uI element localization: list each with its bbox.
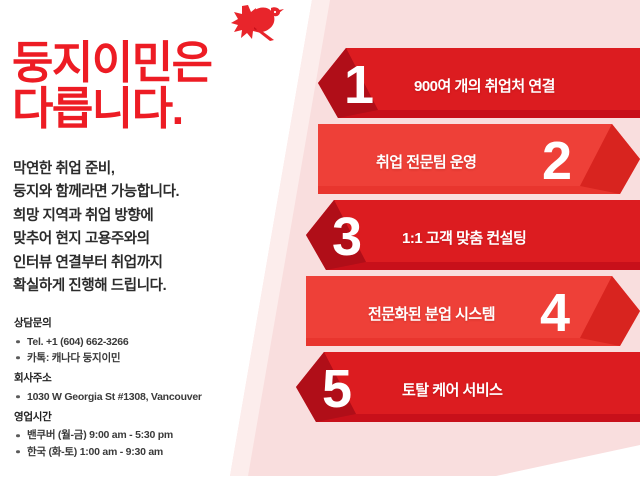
feature-banner-1-number: 1: [344, 58, 373, 112]
feature-banner-3[interactable]: 3 1:1 고객 맞춤 컨설팅: [306, 200, 640, 278]
headline-line-1: 둥지이민은: [12, 40, 292, 86]
contact-block: 상담문의 Tel. +1 (604) 662-3266 카톡: 캐나다 둥지이민…: [14, 318, 284, 467]
left-content-column: 둥지이민은 다릅니다. 막연한 취업 준비, 둥지와 함께라면 가능합니다. 희…: [0, 0, 300, 481]
feature-banner-5[interactable]: 5 토탈 케어 서비스: [296, 352, 640, 430]
contact-hours-korea-text: 한국 (화-토) 1:00 am - 9:30 am: [27, 446, 163, 458]
contact-hours-vancouver: 밴쿠버 (월-금) 9:00 am - 5:30 pm: [14, 427, 284, 443]
lede-line-6: 확실하게 진행해 드립니다.: [13, 275, 283, 298]
bullet-icon: [16, 395, 20, 399]
contact-phone-text: Tel. +1 (604) 662-3266: [27, 336, 128, 348]
bullet-icon: [16, 434, 20, 438]
contact-heading: 영업시간: [14, 412, 284, 424]
contact-address-text: 1030 W Georgia St #1308, Vancouver: [27, 391, 202, 403]
bullet-icon: [16, 356, 20, 360]
feature-banner-4-number: 4: [540, 286, 569, 340]
feature-banner-5-number: 5: [322, 362, 351, 416]
contact-kakao-text: 카톡: 캐나다 둥지이민: [27, 352, 120, 364]
page-title: 둥지이민은 다릅니다.: [12, 40, 292, 133]
contact-group-hours: 영업시간 밴쿠버 (월-금) 9:00 am - 5:30 pm 한국 (화-토…: [14, 412, 284, 460]
contact-hours-korea: 한국 (화-토) 1:00 am - 9:30 am: [14, 444, 284, 460]
bullet-icon: [16, 450, 20, 454]
lede-line-3: 희망 지역과 취업 방향에: [13, 205, 283, 228]
feature-banner-2-label: 취업 전문팀 운영: [376, 151, 476, 172]
feature-banner-1[interactable]: 1 900여 개의 취업처 연결: [318, 48, 640, 126]
feature-banner-3-number: 3: [332, 210, 361, 264]
contact-heading: 상담문의: [14, 318, 284, 330]
lede-paragraph: 막연한 취업 준비, 둥지와 함께라면 가능합니다. 희망 지역과 취업 방향에…: [13, 158, 283, 299]
feature-banner-3-label: 1:1 고객 맞춤 컨설팅: [402, 227, 526, 248]
bullet-icon: [16, 340, 20, 344]
contact-phone[interactable]: Tel. +1 (604) 662-3266: [14, 334, 284, 350]
headline-line-2: 다릅니다.: [12, 86, 292, 132]
contact-heading: 회사주소: [14, 373, 284, 385]
lede-line-1: 막연한 취업 준비,: [13, 158, 283, 181]
contact-group-address: 회사주소 1030 W Georgia St #1308, Vancouver: [14, 373, 284, 405]
feature-banner-5-label: 토탈 케어 서비스: [402, 379, 502, 400]
feature-banner-2-number: 2: [542, 134, 571, 188]
lede-line-5: 인터뷰 연결부터 취업까지: [13, 252, 283, 275]
feature-banner-4[interactable]: 4 전문화된 분업 시스템: [306, 276, 640, 354]
feature-banner-2[interactable]: 2 취업 전문팀 운영: [318, 124, 640, 202]
lede-line-2: 둥지와 함께라면 가능합니다.: [13, 181, 283, 204]
poster-canvas: 둥지이민은 다릅니다. 막연한 취업 준비, 둥지와 함께라면 가능합니다. 희…: [0, 0, 640, 481]
contact-group-inquiry: 상담문의 Tel. +1 (604) 662-3266 카톡: 캐나다 둥지이민: [14, 318, 284, 366]
contact-kakao[interactable]: 카톡: 캐나다 둥지이민: [14, 350, 284, 366]
contact-address[interactable]: 1030 W Georgia St #1308, Vancouver: [14, 389, 284, 405]
feature-banner-1-label: 900여 개의 취업처 연결: [414, 75, 555, 96]
feature-banner-4-label: 전문화된 분업 시스템: [368, 303, 495, 324]
contact-hours-vancouver-text: 밴쿠버 (월-금) 9:00 am - 5:30 pm: [27, 429, 173, 441]
lede-line-4: 맞추어 현지 고용주와의: [13, 228, 283, 251]
